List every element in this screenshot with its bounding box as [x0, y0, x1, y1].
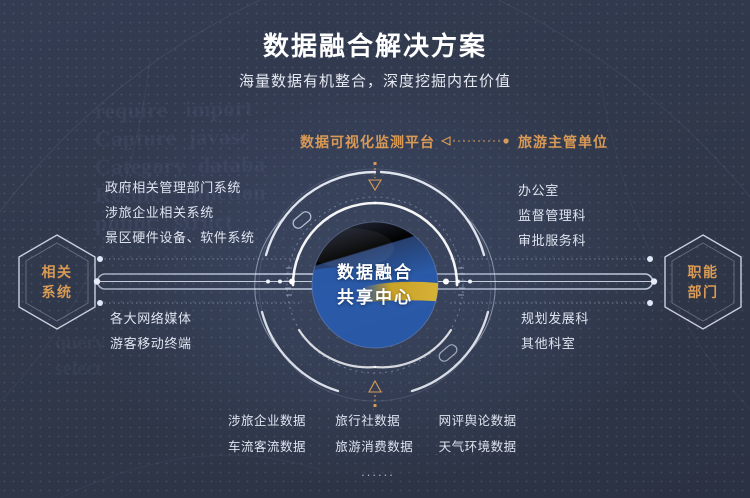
- table-row: 涉旅企业数据 旅行社数据 网评舆论数据: [228, 408, 528, 434]
- list-item: 游客移动终端: [110, 331, 192, 356]
- center-label: 数据融合 共享中心: [302, 222, 448, 348]
- list-item: 涉旅企业相关系统: [105, 200, 255, 225]
- table-cell: 网评舆论数据: [439, 408, 528, 434]
- list-item: 监督管理科: [518, 203, 586, 228]
- table-row: 车流客流数据 旅游消费数据 天气环境数据: [228, 434, 528, 460]
- left-sources-upper-list: 政府相关管理部门系统 涉旅企业相关系统 景区硬件设备、软件系统: [105, 175, 255, 250]
- hex-right-line-1: 职能: [688, 262, 719, 282]
- right-departments-upper-list: 办公室 监督管理科 审批服务科: [518, 178, 586, 253]
- hex-right-line-2: 部门: [688, 282, 719, 302]
- infographic-canvas: require import Capture javasc Category d…: [0, 0, 750, 498]
- left-sources-lower-list: 各大网络媒体 游客移动终端: [110, 306, 192, 356]
- table-cell: 旅行社数据: [335, 408, 438, 434]
- center-line-2: 共享中心: [337, 285, 413, 310]
- list-item: 景区硬件设备、软件系统: [105, 225, 255, 250]
- table-cell: 涉旅企业数据: [228, 408, 335, 434]
- center-line-1: 数据融合: [337, 260, 413, 285]
- list-item: 政府相关管理部门系统: [105, 175, 255, 200]
- hex-left-line-2: 系统: [42, 282, 73, 302]
- list-item: 审批服务科: [518, 228, 586, 253]
- hexagon-related-systems[interactable]: 相关 系统: [14, 232, 100, 332]
- list-item: 规划发展科: [521, 306, 589, 331]
- hexagon-functional-departments[interactable]: 职能 部门: [660, 232, 746, 332]
- list-item: 各大网络媒体: [110, 306, 192, 331]
- right-departments-lower-list: 规划发展科 其他科室: [521, 306, 589, 356]
- ellipsis-indicator: ......: [228, 464, 528, 479]
- list-item: 办公室: [518, 178, 586, 203]
- table-cell: 天气环境数据: [439, 434, 528, 460]
- list-item: 其他科室: [521, 331, 589, 356]
- table-cell: 车流客流数据: [228, 434, 335, 460]
- table-cell: 旅游消费数据: [335, 434, 438, 460]
- hex-left-line-1: 相关: [42, 262, 73, 282]
- bottom-data-types: 涉旅企业数据 旅行社数据 网评舆论数据 车流客流数据 旅游消费数据 天气环境数据…: [228, 408, 528, 479]
